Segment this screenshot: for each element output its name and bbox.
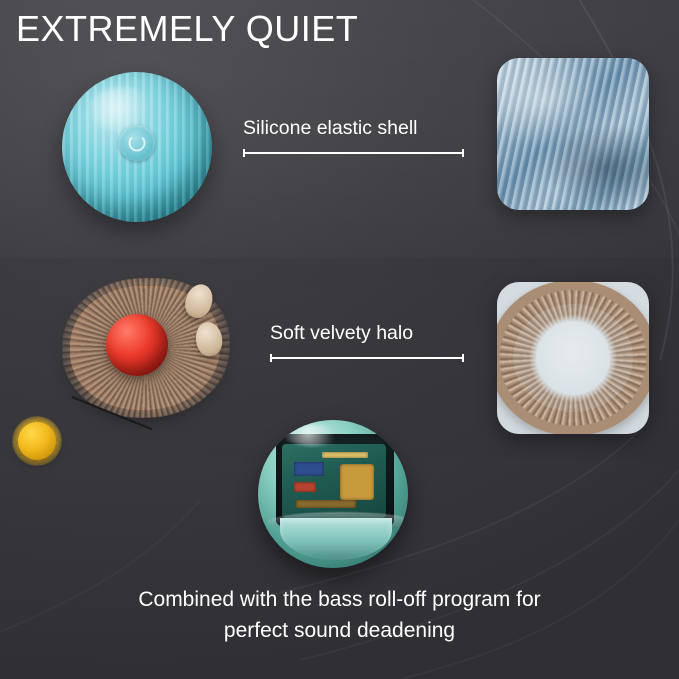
feature-label-velvety-halo: Soft velvety halo xyxy=(270,322,413,345)
page-title: EXTREMELY QUIET xyxy=(16,8,358,50)
cutaway-highlight xyxy=(284,424,344,446)
feature-underline-silicone-shell xyxy=(243,152,464,154)
ball-power-button xyxy=(119,125,155,161)
caption-line-1: Combined with the bass roll-off program … xyxy=(0,585,679,615)
pcb-connector xyxy=(322,452,368,458)
cutaway-base xyxy=(280,518,392,560)
promotional-image: EXTREMELY QUIET Silicone elastic shell S… xyxy=(0,0,679,679)
feature-underline-velvety-halo xyxy=(270,357,464,359)
pcb-chip-red xyxy=(294,482,316,492)
cutaway-outer-shell xyxy=(258,420,408,568)
texture-swatch-fabric xyxy=(497,58,649,210)
product-image-cutaway-ball xyxy=(250,420,420,570)
caption-line-2: perfect sound deadening xyxy=(0,616,679,646)
fur-ring-strands xyxy=(499,290,647,426)
pcb-trace-strip xyxy=(296,500,356,508)
toy-yellow-pompom xyxy=(18,422,56,460)
circuit-board xyxy=(282,444,386,518)
fabric-shading xyxy=(497,58,649,210)
toy-red-ball xyxy=(106,314,168,376)
pcb-chip-blue xyxy=(294,462,324,476)
product-image-furry-toy xyxy=(60,278,240,418)
product-image-silicone-ball xyxy=(62,72,212,222)
ball-highlight xyxy=(89,87,155,132)
texture-swatch-fur-ring xyxy=(497,282,649,434)
feature-label-silicone-shell: Silicone elastic shell xyxy=(243,117,418,140)
pcb-chip-main xyxy=(340,464,374,500)
